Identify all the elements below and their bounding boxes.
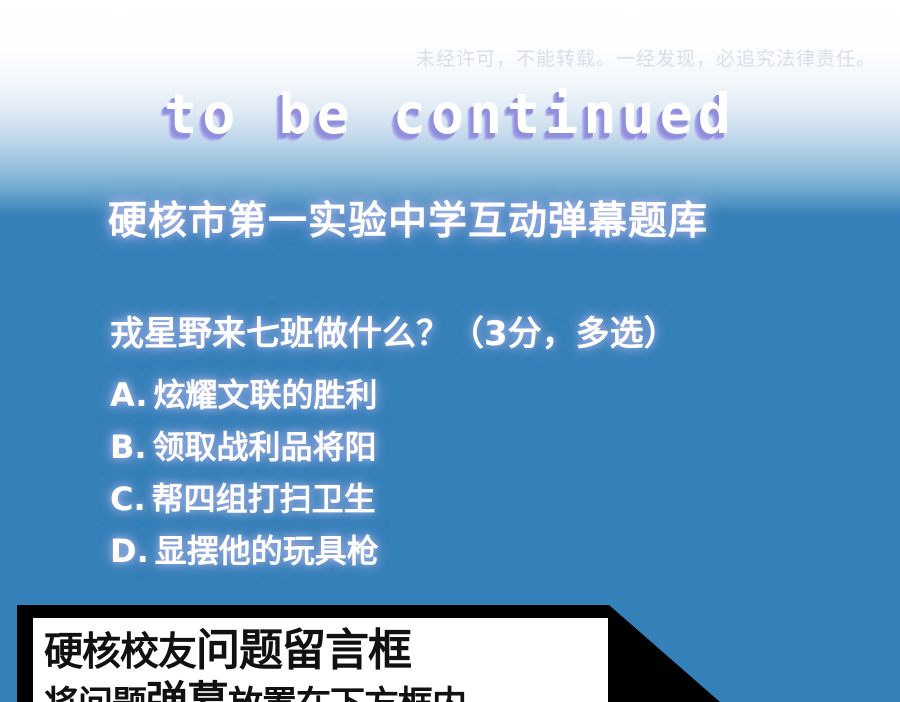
quiz-option-d-text: 显摆他的玩具枪 bbox=[155, 532, 379, 570]
to-be-continued-title: to be continued bbox=[0, 82, 900, 146]
banner-subtitle-big: 弹幕 bbox=[146, 677, 228, 702]
quiz-option-d[interactable]: D.显摆他的玩具枪 bbox=[110, 525, 810, 577]
banner-subtitle-pre: 将问题 bbox=[44, 685, 146, 702]
quiz-block: 戎星野来七班做什么？（3分，多选） A.炫耀文联的胜利 B.领取战利品将阳 C.… bbox=[110, 306, 810, 578]
quiz-option-a[interactable]: A.炫耀文联的胜利 bbox=[110, 369, 810, 421]
message-box-banner: 硬核校友问题留言框 将问题弹幕放置在下方框内 bbox=[0, 595, 900, 702]
banner-subtitle: 将问题弹幕放置在下方框内 bbox=[44, 668, 466, 702]
page-title: 硬核市第一实验中学互动弹幕题库 bbox=[108, 190, 708, 246]
quiz-option-a-label: A. bbox=[110, 376, 148, 414]
quiz-option-d-label: D. bbox=[110, 532, 149, 570]
quiz-option-a-text: 炫耀文联的胜利 bbox=[154, 376, 378, 414]
quiz-option-c-label: C. bbox=[110, 480, 146, 518]
quiz-question: 戎星野来七班做什么？（3分，多选） bbox=[110, 306, 810, 355]
quiz-option-c[interactable]: C.帮四组打扫卫生 bbox=[110, 473, 810, 525]
quiz-option-c-text: 帮四组打扫卫生 bbox=[152, 480, 376, 518]
copyright-notice: 未经许可，不能转载。一经发现，必追究法律责任。 bbox=[0, 44, 876, 71]
banner-subtitle-post: 放置在下方框内 bbox=[228, 685, 466, 702]
banner-white-panel: 硬核校友问题留言框 将问题弹幕放置在下方框内 bbox=[33, 618, 608, 702]
comic-panel: 未经许可，不能转载。一经发现，必追究法律责任。 to be continued … bbox=[0, 0, 900, 702]
quiz-option-b-label: B. bbox=[110, 428, 147, 466]
quiz-option-b[interactable]: B.领取战利品将阳 bbox=[110, 421, 810, 473]
quiz-option-b-text: 领取战利品将阳 bbox=[153, 428, 377, 466]
